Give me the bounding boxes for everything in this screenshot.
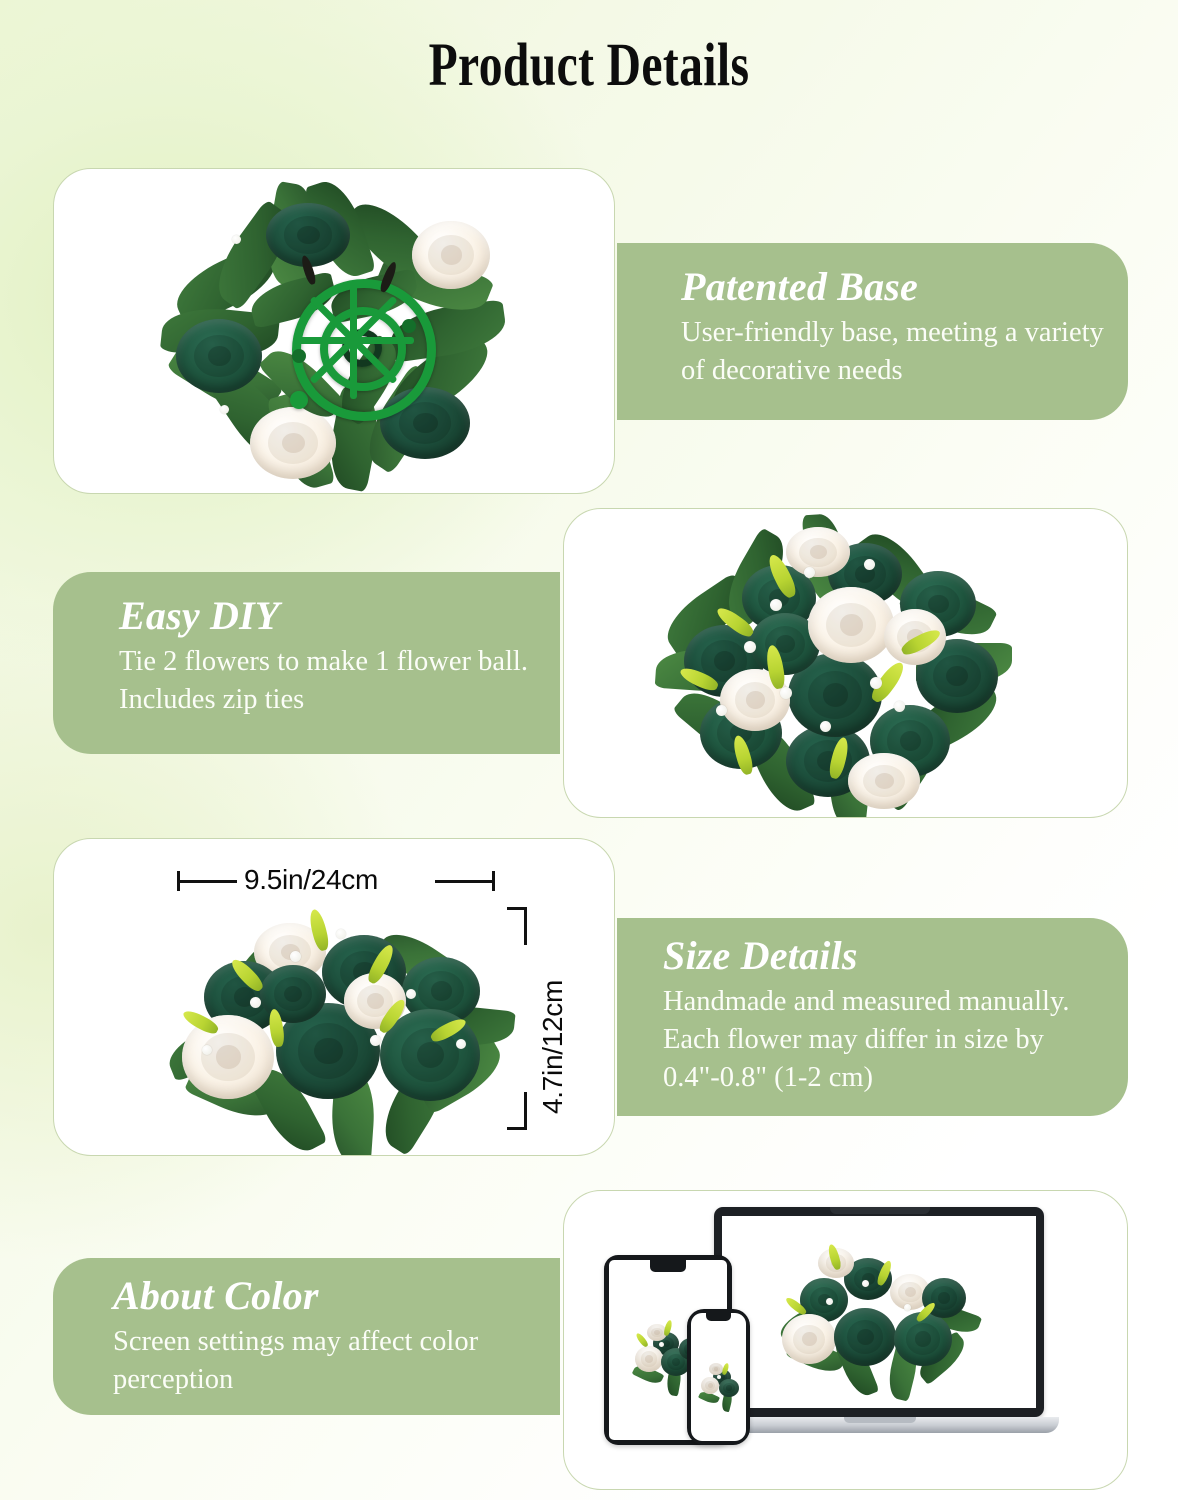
feature-body: Screen settings may affect color percept… <box>113 1323 542 1399</box>
laptop-trackpad-notch <box>844 1417 916 1423</box>
white-filler-bud <box>804 567 815 578</box>
cream-rose <box>786 527 850 577</box>
white-filler-bud <box>406 989 416 999</box>
devices-photo <box>564 1191 1128 1490</box>
white-filler-bud <box>370 1035 381 1046</box>
white-filler-bud <box>456 1039 466 1049</box>
feature-panel-about-color: About Color Screen settings may affect c… <box>53 1258 560 1415</box>
laptop-screen <box>722 1216 1036 1408</box>
base-nub <box>402 319 416 333</box>
feature-body: Tie 2 flowers to make 1 flower ball. Inc… <box>119 643 542 719</box>
dark-green-rose <box>719 1379 739 1397</box>
feature-heading: Easy DIY <box>119 594 542 637</box>
white-filler-bud <box>220 405 229 414</box>
height-dim-line-top <box>524 907 527 945</box>
feature-heading: Patented Base <box>681 265 1106 308</box>
cream-rose <box>709 1363 723 1375</box>
flower-base-photo <box>54 169 615 494</box>
cream-rose <box>182 1015 274 1099</box>
white-filler-bud <box>290 951 301 962</box>
white-filler-bud <box>202 1045 212 1055</box>
white-filler-bud <box>864 559 875 570</box>
width-dim-line-right <box>435 880 495 883</box>
white-filler-bud <box>780 687 792 699</box>
phone-screen <box>691 1313 746 1441</box>
width-dim-right-cap <box>492 871 495 891</box>
phone-camera-notch <box>706 1313 731 1321</box>
cream-rose <box>412 221 490 289</box>
white-filler-bud <box>716 705 727 716</box>
feature-image-card-easy-diy <box>563 508 1128 818</box>
dark-green-rose <box>176 319 262 393</box>
feature-heading: About Color <box>113 1274 542 1317</box>
white-filler-bud <box>904 1304 911 1311</box>
feature-image-card-about-color <box>563 1190 1128 1490</box>
white-filler-bud <box>870 677 882 689</box>
feature-panel-size-details: Size Details Handmade and measured manua… <box>617 918 1128 1116</box>
size-reference-photo: 9.5in/24cm 4.7in/12cm <box>54 839 615 1156</box>
feature-body: Handmade and measured manually. Each flo… <box>663 983 1114 1097</box>
feature-image-card-patented-base <box>53 168 615 494</box>
height-dim-label: 4.7in/12cm <box>537 980 569 1114</box>
cream-rose <box>250 407 336 479</box>
white-filler-bud <box>717 1375 721 1379</box>
product-details-infographic: Product Details <box>0 0 1178 1500</box>
width-dim-line-left <box>177 880 237 883</box>
white-filler-bud <box>744 641 756 653</box>
white-filler-bud <box>826 1298 833 1305</box>
cream-rose <box>782 1314 836 1364</box>
white-filler-bud <box>232 235 241 244</box>
flower-ball-photo <box>564 509 1128 818</box>
patented-base-outer-ring <box>290 391 308 409</box>
white-filler-bud <box>770 599 782 611</box>
phone-device <box>687 1309 750 1445</box>
feature-body: User-friendly base, meeting a variety of… <box>681 314 1106 390</box>
white-filler-bud <box>336 929 346 939</box>
feature-panel-patented-base: Patented Base User-friendly base, meetin… <box>617 243 1128 420</box>
page-title: Product Details <box>130 34 1049 98</box>
white-filler-bud <box>659 1342 664 1347</box>
height-dim-line-bottom <box>524 1092 527 1130</box>
base-nub <box>292 349 306 363</box>
height-dim-bottom-cap <box>507 1127 527 1130</box>
feature-heading: Size Details <box>663 934 1114 977</box>
feature-image-card-size-details: 9.5in/24cm 4.7in/12cm <box>53 838 615 1156</box>
white-filler-bud <box>894 701 905 712</box>
white-filler-bud <box>250 997 261 1008</box>
cream-rose <box>701 1377 719 1394</box>
cream-rose <box>848 753 920 809</box>
laptop-device <box>714 1207 1044 1417</box>
dark-green-rose <box>834 1308 896 1366</box>
laptop-camera-bar <box>830 1207 930 1214</box>
feature-panel-easy-diy: Easy DIY Tie 2 flowers to make 1 flower … <box>53 572 560 754</box>
tablet-camera-notch <box>650 1260 686 1272</box>
width-dim-label: 9.5in/24cm <box>244 864 378 896</box>
cream-rose <box>808 587 894 663</box>
cream-rose <box>635 1346 663 1372</box>
white-filler-bud <box>820 721 831 732</box>
white-filler-bud <box>862 1280 869 1287</box>
dark-green-rose <box>266 203 350 267</box>
